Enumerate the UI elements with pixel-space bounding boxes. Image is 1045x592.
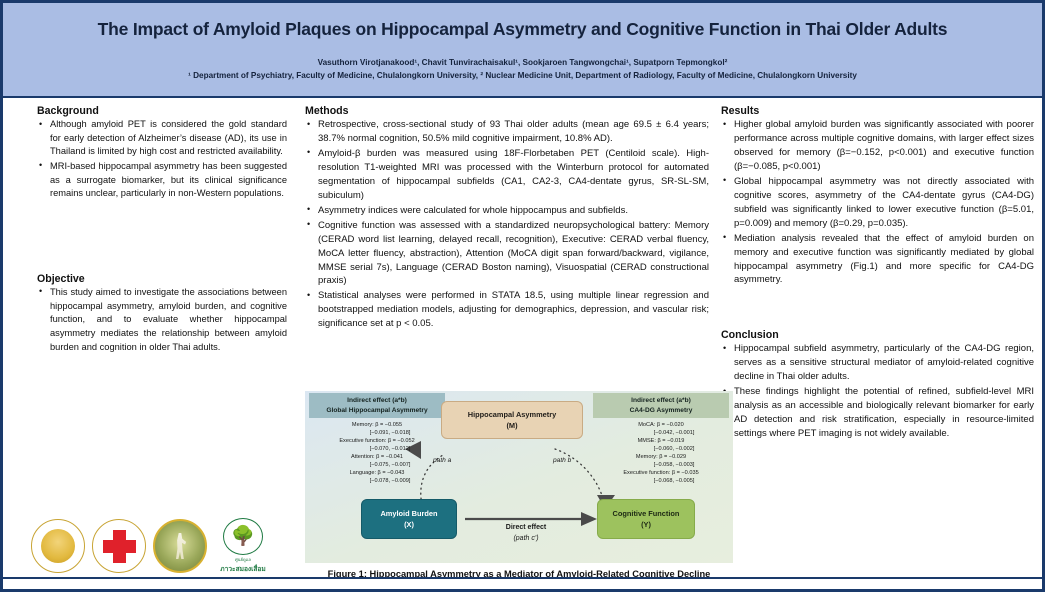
- stat-row: MMSE: β = −0.019: [593, 438, 729, 446]
- figure-silhouette-icon: [172, 533, 188, 559]
- author-block: Vasuthorn Virotjanakood¹, Chavit Tunvira…: [3, 57, 1042, 82]
- section-results: Results Higher global amyloid burden was…: [721, 105, 1034, 287]
- section-background: Background Although amyloid PET is consi…: [37, 105, 287, 201]
- poster-root: The Impact of Amyloid Plaques on Hippoca…: [0, 0, 1045, 592]
- results-bullet-list: Higher global amyloid burden was signifi…: [721, 118, 1034, 287]
- list-item: Cognitive function was assessed with a s…: [305, 219, 709, 289]
- stat-row: Executive function: β = −0.052: [309, 438, 445, 446]
- page-title: The Impact of Amyloid Plaques on Hippoca…: [3, 19, 1042, 40]
- node-label-line2: (M): [506, 420, 517, 431]
- node-label-line1: Hippocampal Asymmetry: [468, 409, 556, 420]
- stat-ci: [−0.091, −0.018]: [309, 430, 445, 438]
- stat-row: Attention: β = −0.041: [309, 454, 445, 462]
- panel-statistics: MoCA: β = −0.020 [−0.042, −0.001] MMSE: …: [593, 418, 729, 486]
- direct-effect-title: Direct effect: [506, 524, 546, 531]
- panel-header-line1: Indirect effect (a*b): [597, 396, 725, 406]
- seal-emblem-icon: [41, 529, 75, 563]
- direct-effect-path: (path c'): [513, 535, 538, 542]
- conclusion-bullet-list: Hippocampal subfield asymmetry, particul…: [721, 342, 1034, 441]
- list-item: Statistical analyses were performed in S…: [305, 289, 709, 331]
- dementia-center-logo-icon: 🌳 ศูนย์ดูแล ภาวะสมองเสื่อม: [214, 518, 272, 574]
- author-affiliations: ¹ Department of Psychiatry, Faculty of M…: [43, 70, 1002, 83]
- stat-row: Executive function: β = −0.035: [593, 470, 729, 478]
- path-a-label: path a: [433, 457, 451, 464]
- list-item: Higher global amyloid burden was signifi…: [721, 118, 1034, 174]
- results-heading: Results: [721, 105, 1034, 117]
- dementia-caption-line1: ศูนย์ดูแล: [235, 556, 251, 563]
- stat-ci: [−0.058, −0.003]: [593, 462, 729, 470]
- background-bullet-list: Although amyloid PET is considered the g…: [37, 118, 287, 201]
- panel-header: Indirect effect (a*b) Global Hippocampal…: [309, 393, 445, 418]
- path-b-label: path b: [553, 457, 571, 464]
- tree-circle-icon: 🌳: [223, 518, 263, 555]
- stat-row: Language: β = −0.043: [309, 470, 445, 478]
- stat-ci: [−0.070, −0.012]: [309, 446, 445, 454]
- list-item: Mediation analysis revealed that the eff…: [721, 232, 1034, 288]
- poster-header: The Impact of Amyloid Plaques on Hippoca…: [3, 3, 1042, 98]
- node-amyloid-burden-predictor: Amyloid Burden (X): [361, 499, 457, 539]
- section-methods: Methods Retrospective, cross-sectional s…: [305, 105, 709, 331]
- stat-row: MoCA: β = −0.020: [593, 422, 729, 430]
- section-conclusion: Conclusion Hippocampal subfield asymmetr…: [721, 329, 1034, 441]
- objective-bullet-list: This study aimed to investigate the asso…: [37, 286, 287, 354]
- stat-ci: [−0.060, −0.002]: [593, 446, 729, 454]
- list-item: Amyloid-β burden was measured using 18F-…: [305, 147, 709, 203]
- objective-heading: Objective: [37, 273, 287, 285]
- chulalongkorn-university-seal-icon: [31, 519, 85, 573]
- background-heading: Background: [37, 105, 287, 117]
- indirect-effect-global-panel: Indirect effect (a*b) Global Hippocampal…: [309, 393, 445, 486]
- column-middle: Methods Retrospective, cross-sectional s…: [305, 105, 709, 332]
- node-label-line2: (Y): [641, 519, 651, 530]
- bottom-divider: [3, 577, 1042, 579]
- panel-header-line2: CA4-DG Asymmetry: [597, 406, 725, 416]
- list-item: Global hippocampal asymmetry was not dir…: [721, 175, 1034, 231]
- node-label-line1: Amyloid Burden: [380, 508, 437, 519]
- node-cognitive-function-outcome: Cognitive Function (Y): [597, 499, 695, 539]
- node-label-line1: Cognitive Function: [613, 508, 680, 519]
- logo-strip: 🌳 ศูนย์ดูแล ภาวะสมองเสื่อม: [31, 511, 281, 581]
- red-cross-icon: [103, 540, 136, 553]
- list-item: Retrospective, cross-sectional study of …: [305, 118, 709, 146]
- conclusion-heading: Conclusion: [721, 329, 1034, 341]
- list-item: Asymmetry indices were calculated for wh…: [305, 204, 709, 218]
- list-item: This study aimed to investigate the asso…: [37, 286, 287, 354]
- node-label-line2: (X): [404, 519, 414, 530]
- node-hippocampal-asymmetry-mediator: Hippocampal Asymmetry (M): [441, 401, 583, 439]
- thai-red-cross-society-seal-icon: [92, 519, 146, 573]
- panel-statistics: Memory: β = −0.055 [−0.091, −0.018] Exec…: [309, 418, 445, 486]
- section-objective: Objective This study aimed to investigat…: [37, 273, 287, 354]
- mediation-diagram-figure: Indirect effect (a*b) Global Hippocampal…: [305, 391, 733, 563]
- direct-effect-label: Direct effect (path c'): [471, 523, 581, 544]
- panel-header-line2: Global Hippocampal Asymmetry: [313, 406, 441, 416]
- panel-header: Indirect effect (a*b) CA4-DG Asymmetry: [593, 393, 729, 418]
- list-item: MRI-based hippocampal asymmetry has been…: [37, 160, 287, 201]
- king-chulalongkorn-memorial-hospital-seal-icon: [153, 519, 207, 573]
- stat-ci: [−0.078, −0.009]: [309, 478, 445, 486]
- list-item: These findings highlight the potential o…: [721, 385, 1034, 441]
- stat-ci: [−0.075, −0.007]: [309, 462, 445, 470]
- stat-row: Memory: β = −0.029: [593, 454, 729, 462]
- stat-ci: [−0.042, −0.001]: [593, 430, 729, 438]
- column-left: Background Although amyloid PET is consi…: [37, 105, 287, 355]
- indirect-effect-ca4dg-panel: Indirect effect (a*b) CA4-DG Asymmetry M…: [593, 393, 729, 486]
- dementia-caption-line2: ภาวะสมองเสื่อม: [220, 563, 265, 574]
- methods-bullet-list: Retrospective, cross-sectional study of …: [305, 118, 709, 331]
- list-item: Although amyloid PET is considered the g…: [37, 118, 287, 159]
- stat-ci: [−0.068, −0.005]: [593, 478, 729, 486]
- stat-row: Memory: β = −0.055: [309, 422, 445, 430]
- list-item: Hippocampal subfield asymmetry, particul…: [721, 342, 1034, 384]
- tree-glyph-icon: 🌳: [231, 527, 255, 546]
- column-right: Results Higher global amyloid burden was…: [721, 105, 1034, 442]
- methods-heading: Methods: [305, 105, 709, 117]
- author-names: Vasuthorn Virotjanakood¹, Chavit Tunvira…: [43, 57, 1002, 70]
- panel-header-line1: Indirect effect (a*b): [313, 396, 441, 406]
